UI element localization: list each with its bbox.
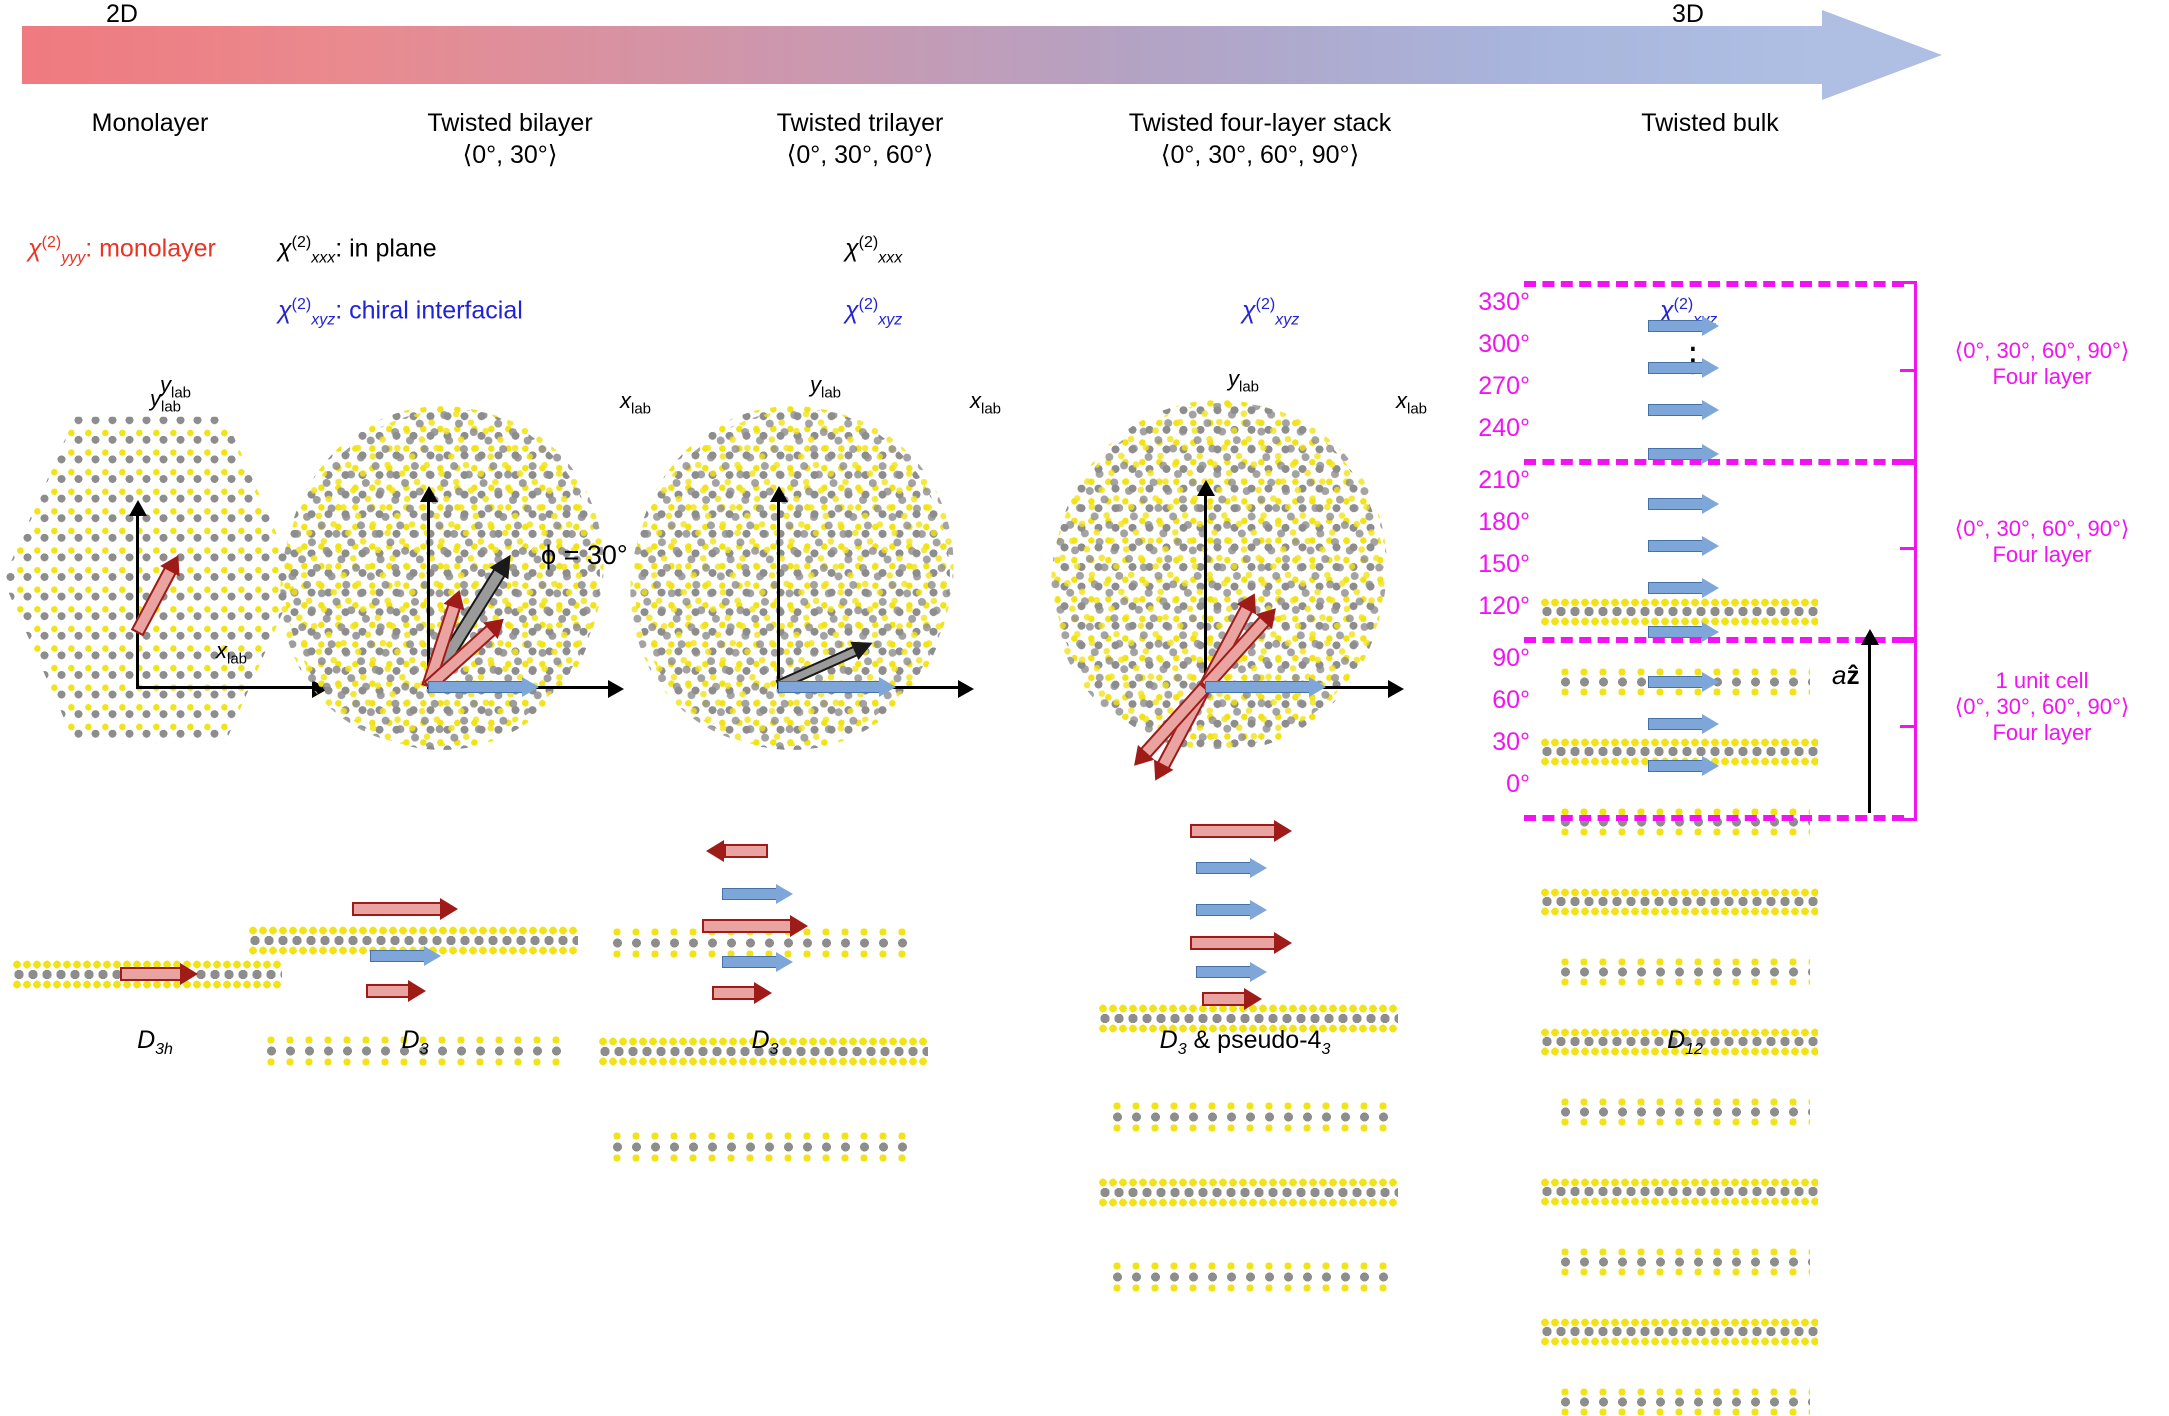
x-axis-arrowhead-icon: [958, 680, 974, 698]
chi-subscript: xyz: [311, 311, 335, 328]
fourlayer-lattice-layer30: [988, 341, 1450, 811]
chi-superscript: (2): [859, 296, 879, 313]
chi-superscript: (2): [859, 234, 879, 251]
group-symbol: D: [752, 1026, 770, 1054]
bulk-interfacial-arrow-3: [1648, 400, 1720, 420]
x-axis-subscript: lab: [981, 400, 1001, 417]
fourlayer-sideview-chi-arrow-4: [1202, 988, 1264, 1010]
column-subtitle-twisted-four-layer: ⟨0°, 30°, 60°, 90°⟩: [1050, 140, 1470, 170]
y-axis-subscript: lab: [171, 384, 191, 401]
chi-superscript: (2): [1256, 296, 1276, 313]
bracket-3-unitcell: 1 unit cell: [1916, 668, 2168, 694]
bulk-angle-tick-90: 90°: [1444, 644, 1530, 673]
fourlayer-sideview-interfacial-arrow-3: [1196, 962, 1268, 982]
x-axis-symbol: x: [1396, 388, 1407, 413]
bulk-bracket-label-2: ⟨0°, 30°, 60°, 90°⟩ Four layer: [1916, 516, 2168, 568]
chi-label-trilayer-chiral: χ(2)xyz: [845, 290, 902, 335]
x-axis-label-monolayer: xlab: [216, 638, 247, 667]
bulk-angle-tick-300: 300°: [1444, 330, 1530, 359]
bulk-interfacial-arrow-2: [1648, 358, 1720, 378]
bulk-angle-tick-270: 270°: [1444, 372, 1530, 401]
group-subscript: 3: [420, 1041, 429, 1058]
chi-superscript: (2): [42, 234, 62, 251]
bracket-2-angles: ⟨0°, 30°, 60°, 90°⟩: [1916, 516, 2168, 542]
y-axis-arrowhead-icon: [770, 486, 788, 502]
chi-superscript: (2): [292, 296, 312, 313]
chi-description: : in plane: [335, 234, 436, 262]
column-subtitle-twisted-bilayer: ⟨0°, 30°⟩: [350, 140, 670, 170]
bracket-1-angles: ⟨0°, 30°, 60°, 90°⟩: [1916, 338, 2168, 364]
group-symbol: D: [137, 1026, 155, 1054]
bilayer-sideview-chi-arrow-bottom: [366, 980, 428, 1002]
bulk-slab-180: [1556, 958, 1810, 986]
unit-cell-divider-3: [1524, 637, 1904, 643]
chi-subscript: xxx: [878, 249, 902, 266]
point-group-fourlayer: D3 & pseudo-43: [1080, 1026, 1410, 1059]
x-axis-symbol: x: [620, 388, 631, 413]
x-axis-arrowhead-icon: [608, 680, 624, 698]
bracket-2-layers: Four layer: [1916, 542, 2168, 568]
y-axis-subscript: lab: [821, 384, 841, 401]
chi-superscript: (2): [1674, 296, 1694, 313]
y-axis-symbol: y: [160, 372, 171, 397]
bilayer-sideview-chi-arrow-top: [352, 898, 462, 920]
bulk-angle-tick-330: 330°: [1444, 288, 1530, 317]
bulk-angle-tick-150: 150°: [1444, 550, 1530, 579]
bulk-bracket-label-3: 1 unit cell ⟨0°, 30°, 60°, 90°⟩ Four lay…: [1916, 668, 2168, 746]
trilayer-lattice-layer30: [569, 350, 1015, 806]
y-axis-subscript: lab: [1239, 378, 1259, 395]
chi-superscript: (2): [292, 234, 312, 251]
chi-label-bilayer-chiral: χ(2)xyz: chiral interfacial: [278, 290, 523, 335]
bracket-3-layers: Four layer: [1916, 720, 2168, 746]
group-subscript: 12: [1685, 1041, 1703, 1058]
label-3d: 3D: [1672, 0, 1704, 29]
bilayer-interfacial-arrow: [428, 677, 543, 697]
bulk-angle-tick-0: 0°: [1444, 770, 1530, 799]
trilayer-sideview-chi-arrow-top: [706, 840, 768, 862]
chi-symbol: χ: [1242, 296, 1256, 324]
bulk-interfacial-arrow-1: [1648, 316, 1720, 336]
x-axis-symbol: x: [216, 638, 227, 663]
column-title-monolayer: Monolayer: [0, 108, 300, 138]
unit-cell-bracket-1: [1900, 281, 1917, 465]
column-subtitle-twisted-trilayer: ⟨0°, 30°, 60°⟩: [700, 140, 1020, 170]
chi-description: : chiral interfacial: [335, 296, 523, 324]
y-axis-label-bilayer: ylab: [160, 372, 191, 401]
y-axis-arrowhead-icon: [420, 486, 438, 502]
bulk-interfacial-arrow-10: [1648, 714, 1720, 734]
group-symbol: D: [1667, 1026, 1685, 1054]
x-axis-label-trilayer: xlab: [970, 388, 1001, 417]
x-axis-arrowhead-icon: [1388, 680, 1404, 698]
monolayer-lattice: [0, 410, 300, 750]
bulk-slab-60: [1556, 1248, 1810, 1276]
group-subscript: 3: [1178, 1041, 1187, 1058]
bulk-interfacial-arrow-9: [1648, 672, 1720, 692]
bilayer-lattice-layer30: [219, 350, 665, 806]
y-axis-arrowhead-icon: [1197, 480, 1215, 496]
chi-label-trilayer-inplane: χ(2)xxx: [845, 228, 902, 273]
fourlayer-sideview-slab-2: [1108, 1102, 1388, 1134]
arrow-head-icon: [1822, 10, 1942, 100]
bulk-slab-30: [1540, 1318, 1818, 1346]
trilayer-sideview-chi-arrow-mid: [702, 915, 812, 937]
twisted-trilayer-topview-panel: [632, 390, 962, 750]
trilayer-sideview-chi-arrow-bottom: [712, 982, 774, 1004]
trilayer-interfacial-arrow: [778, 677, 900, 697]
column-title-twisted-bulk: Twisted bulk: [1500, 108, 1920, 138]
unit-cell-divider-2: [1524, 459, 1904, 465]
y-axis-label-fourlayer: ylab: [1228, 366, 1259, 395]
lattice-constant-symbol: a: [1832, 660, 1846, 690]
lattice-vector-arrowhead-icon: [1861, 629, 1879, 645]
group-subscript: 3: [770, 1041, 779, 1058]
fourlayer-interfacial-arrow: [1205, 677, 1330, 697]
column-title-twisted-four-layer: Twisted four-layer stack: [1050, 108, 1470, 138]
bulk-angle-tick-30: 30°: [1444, 728, 1530, 757]
bulk-angle-tick-180: 180°: [1444, 508, 1530, 537]
y-axis-arrowhead-icon: [129, 500, 147, 516]
y-axis-line: [777, 502, 780, 688]
chi-subscript: yyy: [61, 249, 85, 266]
fourlayer-sideview-interfacial-arrow-2: [1196, 900, 1268, 920]
point-group-trilayer: D3: [640, 1026, 890, 1059]
chi-subscript: xyz: [878, 311, 902, 328]
bulk-angle-tick-60: 60°: [1444, 686, 1530, 715]
chi-description: : monolayer: [85, 234, 216, 262]
bulk-slab-0: [1556, 1388, 1810, 1416]
x-axis-subscript: lab: [1407, 400, 1427, 417]
label-2d: 2D: [106, 0, 138, 29]
bilayer-sideview-interfacial-arrow: [370, 946, 442, 966]
chi-subscript: xxx: [311, 249, 335, 266]
chi-subscript: xyz: [1275, 311, 1299, 328]
group-extra-subscript: 3: [1321, 1041, 1330, 1058]
bulk-bracket-label-1: ⟨0°, 30°, 60°, 90°⟩ Four layer: [1916, 338, 2168, 390]
bulk-angle-tick-120: 120°: [1444, 592, 1530, 621]
bulk-interfacial-arrow-11: [1648, 756, 1720, 776]
group-subscript: 3h: [155, 1041, 173, 1058]
twist-angle-label: ϕ = 30°: [541, 540, 628, 571]
group-extra-text: & pseudo-4: [1187, 1026, 1322, 1054]
point-group-monolayer: D3h: [30, 1026, 280, 1059]
z-hat-symbol: ẑ: [1846, 660, 1859, 690]
unit-cell-divider-top: [1524, 281, 1904, 287]
group-symbol: D: [402, 1026, 420, 1054]
x-axis-label-fourlayer: xlab: [1396, 388, 1427, 417]
lattice-vector-label: aẑ: [1832, 660, 1859, 691]
bulk-slab-210: [1540, 888, 1818, 916]
y-axis-symbol: y: [1228, 366, 1239, 391]
bulk-interfacial-arrow-6: [1648, 536, 1720, 556]
bulk-angle-tick-210: 210°: [1444, 466, 1530, 495]
group-symbol: D: [1160, 1026, 1178, 1054]
bracket-3-angles: ⟨0°, 30°, 60°, 90°⟩: [1916, 694, 2168, 720]
lattice-vector-line: [1868, 645, 1871, 813]
chi-label-monolayer: χ(2)yyy: monolayer: [28, 228, 216, 273]
bracket-1-layers: Four layer: [1916, 364, 2168, 390]
unit-cell-bracket-tick-3: [1900, 725, 1914, 728]
bulk-angle-tick-240: 240°: [1444, 414, 1530, 443]
trilayer-sideview-slab-bottom: [608, 1132, 908, 1164]
x-axis-symbol: x: [970, 388, 981, 413]
column-title-twisted-bilayer: Twisted bilayer: [350, 108, 670, 138]
bulk-interfacial-arrow-7: [1648, 578, 1720, 598]
bulk-slab-240: [1556, 808, 1810, 836]
chi-symbol: χ: [28, 234, 42, 262]
bulk-slab-90: [1540, 1178, 1818, 1206]
y-axis-line: [136, 516, 139, 688]
fourlayer-sideview-interfacial-arrow-1: [1196, 858, 1268, 878]
gradient-bar: [22, 26, 1840, 84]
monolayer-topview-panel: [0, 390, 320, 750]
fourlayer-sideview-chi-arrow-3: [1190, 932, 1295, 954]
unit-cell-bracket-2: [1900, 459, 1917, 643]
chi-label-bilayer-inplane: χ(2)xxx: in plane: [278, 228, 437, 273]
bulk-slab-120: [1556, 1098, 1810, 1126]
x-axis-subscript: lab: [227, 650, 247, 667]
chi-label-fourlayer-chiral: χ(2)xyz: [1242, 290, 1299, 335]
y-axis-symbol: y: [810, 372, 821, 397]
monolayer-sideview-chi-arrow: [120, 963, 200, 985]
point-group-bilayer: D3: [290, 1026, 540, 1059]
unit-cell-bracket-3: [1900, 637, 1917, 821]
y-axis-label-trilayer: ylab: [810, 372, 841, 401]
chi-symbol: χ: [845, 234, 859, 262]
chi-symbol: χ: [278, 296, 292, 324]
dimensionality-arrow: [22, 26, 1942, 84]
unit-cell-bracket-tick-1: [1900, 369, 1914, 372]
unit-cell-divider-bottom: [1524, 815, 1904, 821]
bulk-interfacial-arrow-5: [1648, 494, 1720, 514]
trilayer-sideview-interfacial-arrow-lower: [722, 952, 794, 972]
point-group-bulk: D12: [1560, 1026, 1810, 1059]
trilayer-sideview-interfacial-arrow-upper: [722, 884, 794, 904]
fourlayer-sideview-chi-arrow-1: [1190, 820, 1295, 842]
chi-symbol: χ: [845, 296, 859, 324]
column-title-twisted-trilayer: Twisted trilayer: [700, 108, 1020, 138]
twisted-four-layer-topview-panel: [1052, 390, 1392, 750]
chi-symbol: χ: [278, 234, 292, 262]
fourlayer-sideview-slab-4: [1108, 1262, 1388, 1294]
unit-cell-bracket-tick-2: [1900, 547, 1914, 550]
fourlayer-sideview-slab-3: [1098, 1178, 1398, 1208]
